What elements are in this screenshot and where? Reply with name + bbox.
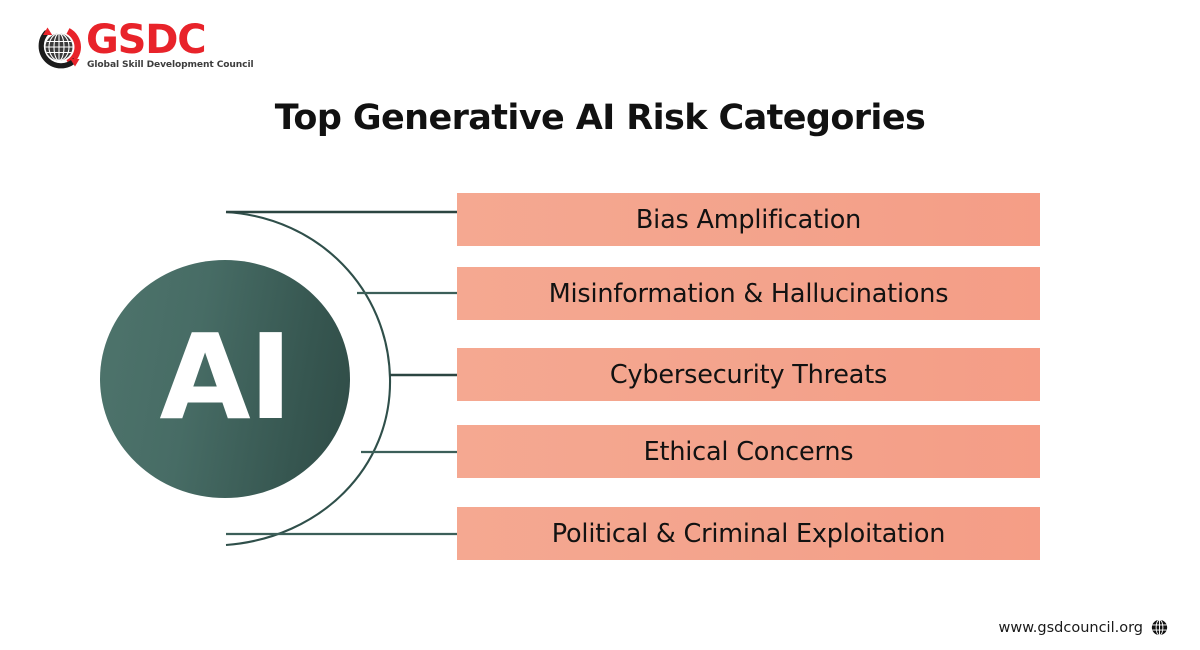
footer: www.gsdcouncil.org xyxy=(999,619,1168,636)
risk-bar-3[interactable]: Cybersecurity Threats xyxy=(457,348,1040,401)
infographic-canvas: GSDC Global Skill Development Council To… xyxy=(0,0,1200,650)
website-url[interactable]: www.gsdcouncil.org xyxy=(999,620,1143,636)
risk-bar-1[interactable]: Bias Amplification xyxy=(457,193,1040,246)
ai-hub-circle: AI xyxy=(100,260,350,498)
risk-bar-2[interactable]: Misinformation & Hallucinations xyxy=(457,267,1040,320)
risk-bar-5[interactable]: Political & Criminal Exploitation xyxy=(457,507,1040,560)
risk-bar-label: Misinformation & Hallucinations xyxy=(549,279,949,309)
ai-hub: AI xyxy=(100,260,350,498)
ai-hub-label: AI xyxy=(159,318,290,436)
risk-bar-label: Ethical Concerns xyxy=(644,437,854,467)
risk-bar-label: Cybersecurity Threats xyxy=(610,360,887,390)
risk-bar-label: Political & Criminal Exploitation xyxy=(552,519,945,549)
globe-icon xyxy=(1151,619,1168,636)
risk-bar-label: Bias Amplification xyxy=(636,205,861,235)
risk-diagram: AI Bias Amplification Misinformation & H… xyxy=(0,0,1200,650)
risk-bar-4[interactable]: Ethical Concerns xyxy=(457,425,1040,478)
